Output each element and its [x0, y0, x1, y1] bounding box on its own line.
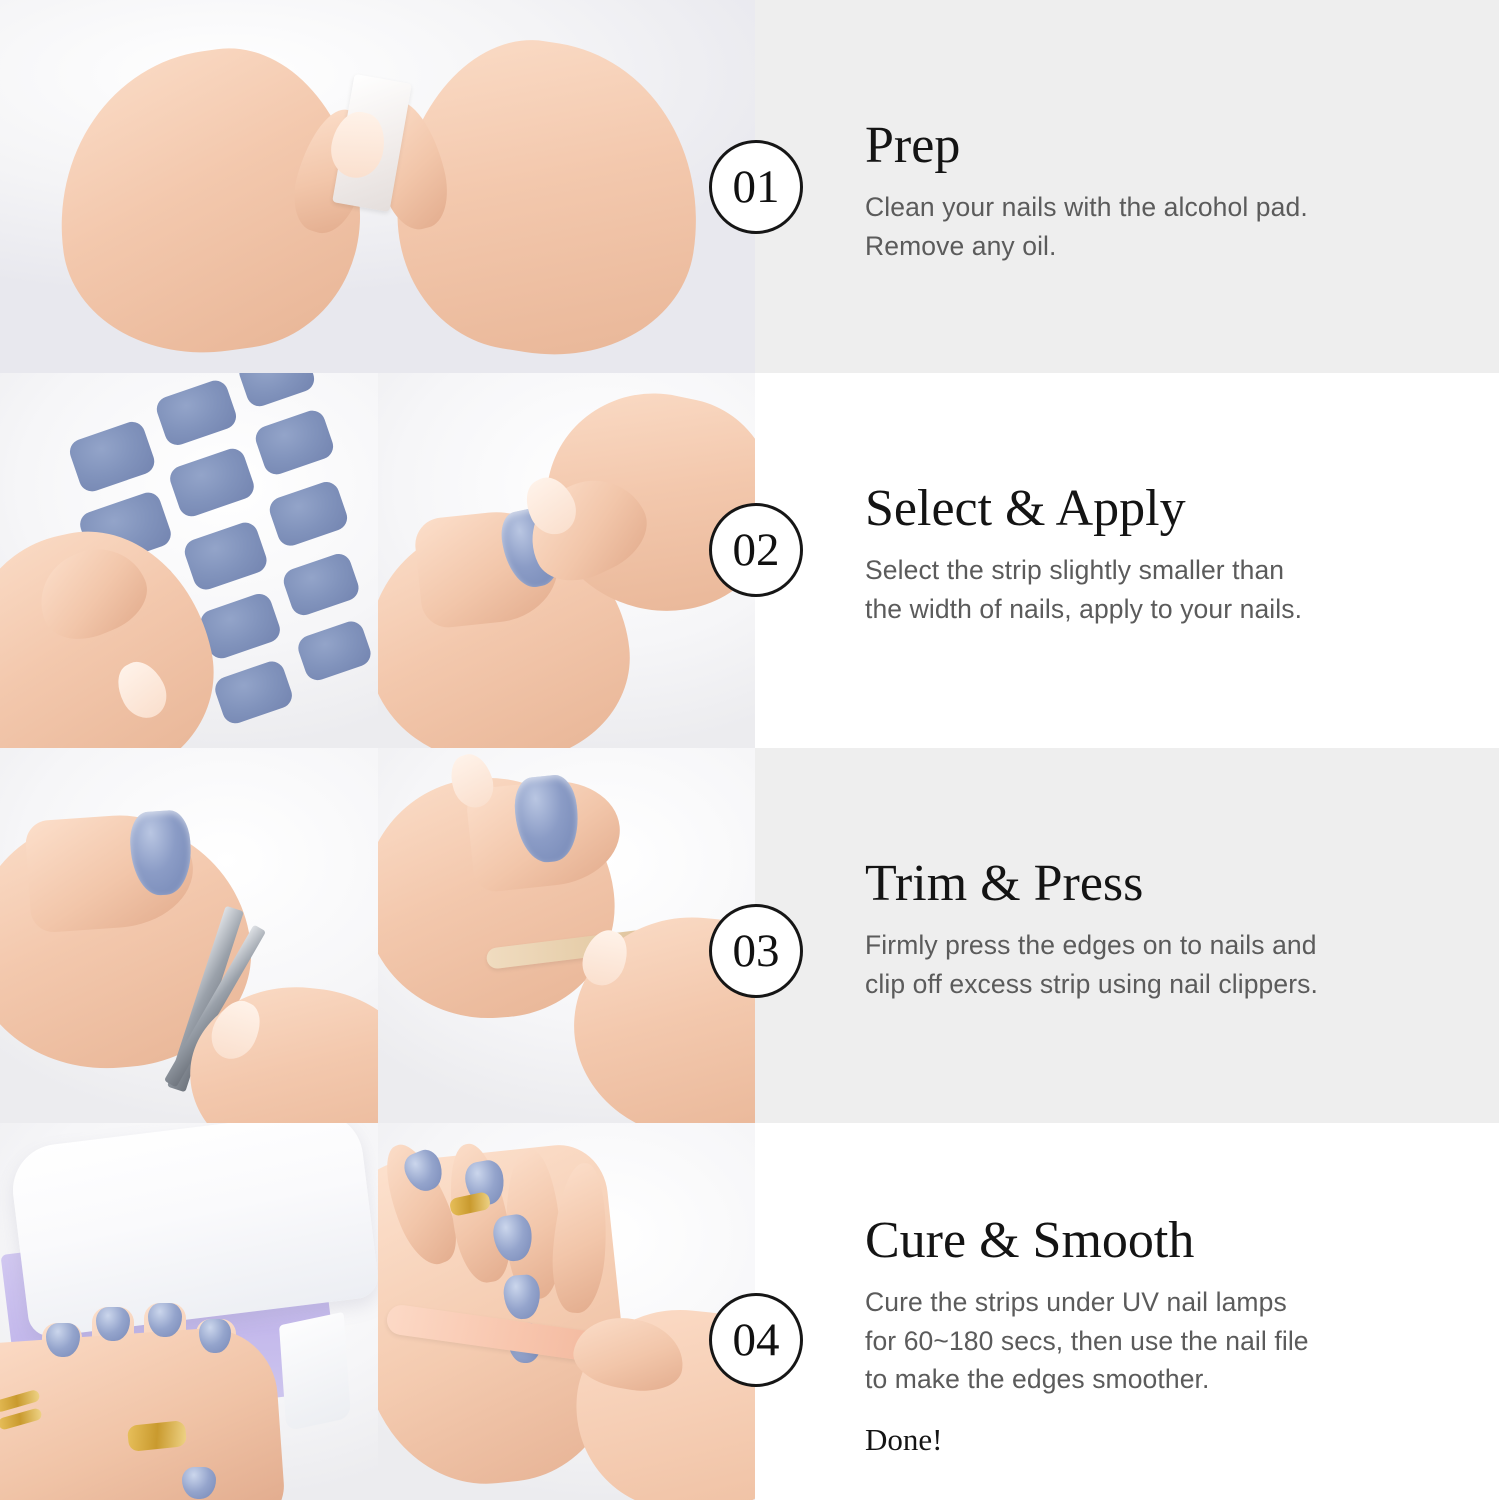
step-number-badge-1: 01 [709, 140, 803, 234]
step-3-text: Trim & Press Firmly press the edges on t… [865, 856, 1425, 1003]
step-1-title: Prep [865, 118, 1425, 174]
step-1-photo-column [0, 0, 755, 373]
step-3-description-line-2: clip off excess strip using nail clipper… [865, 965, 1425, 1003]
step-number-badge-4: 04 [709, 1293, 803, 1387]
nail-strip [252, 407, 336, 478]
step-4-description-line-2: for 60~180 secs, then use the nail file [865, 1322, 1425, 1360]
step-number-label: 03 [733, 928, 780, 975]
photo-pressing-edges-with-wood-stick [378, 748, 755, 1123]
step-number-badge-2: 02 [709, 503, 803, 597]
step-2-description-line-1: Select the strip slightly smaller than [865, 551, 1425, 589]
step-row-1: 01 Prep Clean your nails with the alcoho… [0, 0, 1499, 373]
step-2-description-line-2: the width of nails, apply to your nails. [865, 590, 1425, 628]
step-1-description-line-1: Clean your nails with the alcohol pad. [865, 188, 1425, 226]
step-number-badge-3: 03 [709, 904, 803, 998]
step-4-text-column: 04 Cure & Smooth Cure the strips under U… [755, 1123, 1499, 1500]
nail-strip [295, 618, 374, 684]
step-3-photo-column [0, 748, 755, 1123]
step-3-title: Trim & Press [865, 856, 1425, 912]
step-2-text: Select & Apply Select the strip slightly… [865, 481, 1425, 628]
step-2-title: Select & Apply [865, 481, 1425, 537]
step-4-text: Cure & Smooth Cure the strips under UV n… [865, 1213, 1425, 1455]
photo-filing-nail-edges [378, 1123, 755, 1500]
photo-hands-holding-alcohol-pad [0, 0, 755, 373]
step-1-text: Prep Clean your nails with the alcohol p… [865, 118, 1425, 265]
step-3-description-line-1: Firmly press the edges on to nails and [865, 926, 1425, 964]
step-4-title: Cure & Smooth [865, 1213, 1425, 1269]
step-4-photo-column [0, 1123, 755, 1500]
step-1-text-column: 01 Prep Clean your nails with the alcoho… [755, 0, 1499, 373]
step-2-photo-column [0, 373, 755, 748]
step-4-description-line-1: Cure the strips under UV nail lamps [865, 1283, 1425, 1321]
step-3-text-column: 03 Trim & Press Firmly press the edges o… [755, 748, 1499, 1123]
nail-strip [280, 550, 362, 618]
nail-strip [212, 658, 296, 727]
step-row-3: 03 Trim & Press Firmly press the edges o… [0, 748, 1499, 1123]
step-2-text-column: 02 Select & Apply Select the strip sligh… [755, 373, 1499, 748]
step-number-label: 04 [733, 1317, 780, 1364]
photo-trimming-strip-with-clippers [0, 748, 378, 1123]
nail-strip [181, 519, 270, 593]
nail-strip [153, 377, 239, 448]
step-row-4: 04 Cure & Smooth Cure the strips under U… [0, 1123, 1499, 1500]
hand [0, 1324, 287, 1500]
step-4-description-line-3: to make the edges smoother. [865, 1360, 1425, 1398]
step-1-description-line-2: Remove any oil. [865, 227, 1425, 265]
photo-sheet-of-blue-nail-strips [0, 373, 378, 748]
instruction-infographic: 01 Prep Clean your nails with the alcoho… [0, 0, 1499, 1500]
step-number-label: 02 [733, 527, 780, 574]
nail-strip [167, 445, 258, 520]
nail-strip [66, 418, 157, 494]
photo-hand-under-uv-lamp [0, 1123, 378, 1500]
photo-applying-strip-to-nail [378, 373, 755, 748]
nail-strip [266, 478, 350, 549]
nail-strip [236, 373, 318, 410]
step-number-label: 01 [733, 164, 780, 211]
uv-lamp-leg [279, 1312, 351, 1431]
step-row-2: 02 Select & Apply Select the strip sligh… [0, 373, 1499, 748]
step-4-closing-label: Done! [865, 1424, 1425, 1455]
